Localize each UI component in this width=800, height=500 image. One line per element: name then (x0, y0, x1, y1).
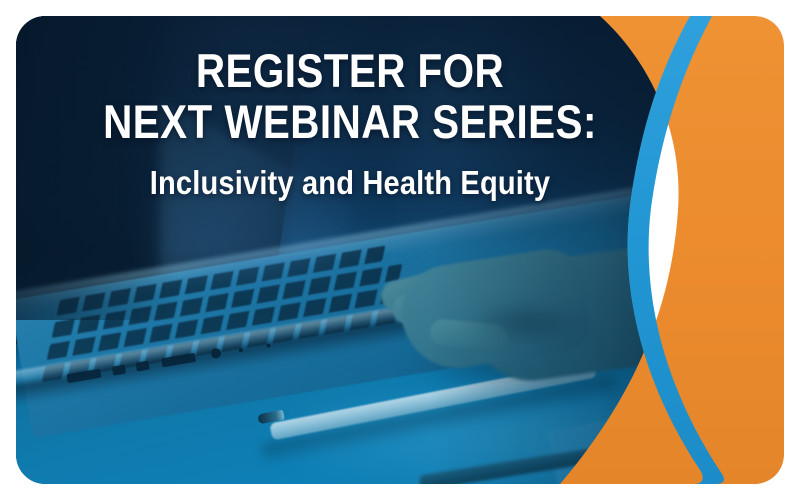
laptop-port-row (62, 332, 301, 387)
thumb (429, 318, 509, 352)
thunderbolt-port-icon (135, 361, 149, 372)
webinar-banner: REGISTER FOR NEXT WEBINAR SERIES: Inclus… (0, 0, 800, 500)
pen-tip (257, 410, 284, 425)
window-light-glow (300, 0, 600, 280)
status-led-icon (239, 348, 244, 353)
finger (404, 304, 497, 335)
keyboard-row (42, 302, 432, 382)
desk-highlight (300, 400, 800, 500)
laptop-keyboard-deck (10, 181, 743, 438)
pen-shadow (261, 376, 619, 466)
typing-hand (395, 244, 594, 376)
background-photo-panel (0, 0, 800, 500)
headphone-jack-icon (210, 348, 222, 360)
photo-base-wash (0, 0, 800, 500)
paper-sheet (548, 371, 800, 500)
usb-port-icon (66, 369, 101, 383)
status-led-icon (266, 343, 271, 348)
laptop-edge-shadow (6, 264, 739, 408)
hand-shadow (400, 340, 680, 400)
keyboard-row (56, 246, 385, 316)
photo-top-shade (0, 0, 800, 250)
laptop-deck-highlight (10, 173, 724, 317)
finger (390, 283, 493, 326)
window-light-streak (150, 0, 370, 270)
forearm (463, 226, 800, 389)
laptop-lid-highlight (160, 99, 350, 400)
laptop-front-edge (8, 252, 731, 388)
laptop-screen-lid (0, 2, 315, 349)
keyboard-row (52, 264, 403, 338)
knuckle-shadow (470, 300, 610, 346)
pen-light (269, 361, 596, 441)
finger (378, 260, 486, 314)
laptop-keyboard-keys (38, 231, 475, 401)
pen-dark (419, 429, 718, 491)
keyboard-row (47, 283, 417, 360)
photo-duotone-tint (0, 0, 800, 500)
photo-right-vignette (430, 0, 800, 500)
photo-left-vignette (0, 0, 180, 320)
usb-port-icon (161, 353, 196, 367)
thunderbolt-port-icon (112, 365, 126, 376)
desk-surface (0, 260, 800, 500)
